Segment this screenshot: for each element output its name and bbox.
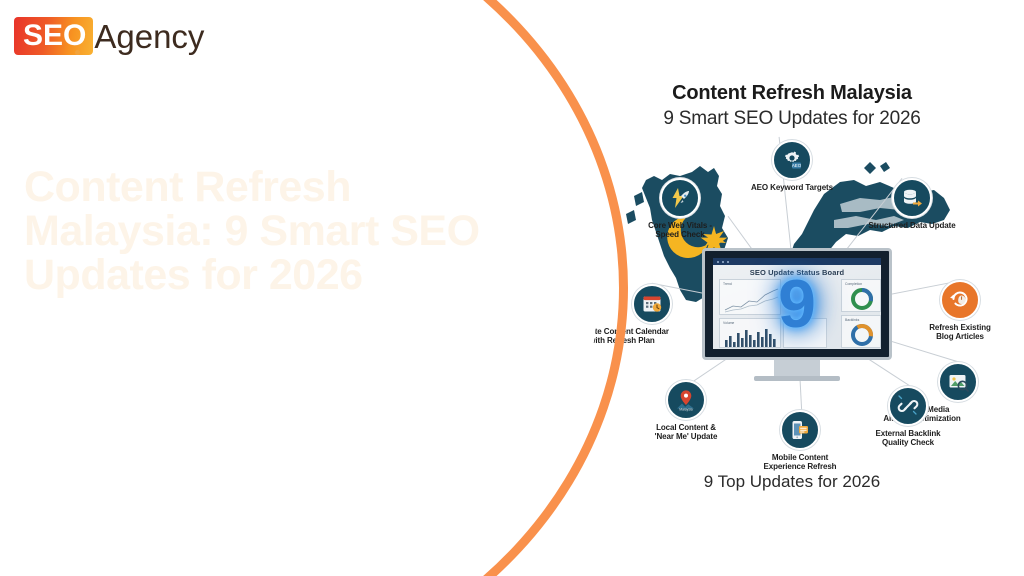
page-title: Content Refresh Malaysia: 9 Smart SEO Up… xyxy=(24,166,514,298)
node-aeo-keyword-targets[interactable]: AEO AEO Keyword Targets xyxy=(732,140,852,192)
node-label: AEO Keyword Targets xyxy=(722,183,862,192)
node-refresh-existing-blogs[interactable]: Refresh Existing Blog Articles xyxy=(900,280,1020,342)
node-external-backlink-quality[interactable]: External Backlink Quality Check xyxy=(848,386,968,448)
node-label: Mobile Content Experience Refresh xyxy=(740,453,860,472)
database-sync-icon xyxy=(892,178,932,218)
logo-agency-text: Agency xyxy=(94,20,204,53)
chain-link-icon xyxy=(888,386,928,426)
node-mobile-content-refresh[interactable]: Mobile Content Experience Refresh xyxy=(740,410,860,472)
location-pin-icon: Malaysia xyxy=(666,380,706,420)
logo-seo-text: SEO xyxy=(23,21,86,51)
node-label: External Backlink Quality Check xyxy=(848,429,968,448)
node-label: Structured Data Update xyxy=(842,221,982,230)
dashboard-topbar xyxy=(713,258,881,265)
monitor-base xyxy=(754,376,840,381)
svg-text:Malaysia: Malaysia xyxy=(679,408,692,412)
dashboard-monitor: SEO Update Status Board Trend Volume xyxy=(702,248,892,376)
refresh-clock-icon xyxy=(940,280,980,320)
node-label: Refresh Existing Blog Articles xyxy=(900,323,1020,342)
node-structured-data-update[interactable]: Structured Data Update xyxy=(852,178,972,230)
node-local-near-me-update[interactable]: Malaysia Local Content & 'Near Me' Updat… xyxy=(626,380,746,442)
monitor-screen: SEO Update Status Board Trend Volume xyxy=(713,258,881,349)
brand-logo[interactable]: SEO Agency xyxy=(14,14,204,58)
gear-aeo-icon: AEO xyxy=(772,140,812,180)
monitor-bezel: SEO Update Status Board Trend Volume xyxy=(702,248,892,360)
mobile-refresh-icon xyxy=(780,410,820,450)
dashboard-big-number: 9 xyxy=(713,272,881,337)
logo-accent-dot xyxy=(75,50,80,55)
node-label: Local Content & 'Near Me' Update xyxy=(626,423,746,442)
rocket-speed-icon xyxy=(660,178,700,218)
logo-mark: SEO xyxy=(14,17,93,55)
svg-text:AEO: AEO xyxy=(792,163,802,168)
